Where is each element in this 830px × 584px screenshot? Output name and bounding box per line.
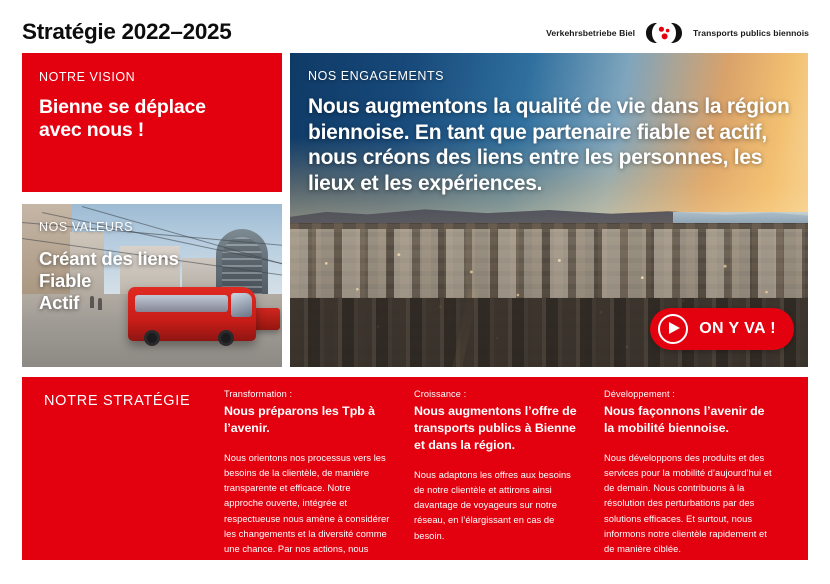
- values-kicker: NOS VALEURS: [39, 220, 133, 234]
- column-kicker: Croissance :: [414, 389, 582, 399]
- strategy-column-croissance: Croissance : Nous augmentons l’offre de …: [414, 389, 604, 572]
- column-kicker: Transformation :: [224, 389, 392, 399]
- tpb-logo-icon: [644, 22, 684, 44]
- engagements-kicker: NOS ENGAGEMENTS: [308, 69, 444, 83]
- vision-headline: Bienne se déplace avec nous !: [39, 96, 267, 142]
- engagements-panel: NOS ENGAGEMENTS Nous augmentons la quali…: [290, 53, 808, 367]
- values-list: Créant des liens Fiable Actif: [39, 248, 274, 315]
- vision-panel: NOTRE VISION Bienne se déplace avec nous…: [22, 53, 282, 192]
- vision-headline-line-2: avec nous !: [39, 119, 267, 142]
- column-headline: Nous augmentons l’offre de transports pu…: [414, 403, 582, 454]
- column-body: Nous développons des produits et des ser…: [604, 450, 772, 557]
- column-kicker: Développement :: [604, 389, 772, 399]
- brand-name-de: Verkehrsbetriebe Biel: [546, 28, 635, 38]
- values-panel: NOS VALEURS Créant des liens Fiable Acti…: [22, 204, 282, 367]
- on-y-va-button-label: ON Y VA !: [699, 320, 776, 338]
- strategy-column-transformation: Transformation : Nous préparons les Tpb …: [224, 389, 414, 572]
- strategy-column-developpement: Développement : Nous façonnons l’avenir …: [604, 389, 794, 572]
- page-header: Stratégie 2022–2025 Verkehrsbetriebe Bie…: [0, 0, 830, 53]
- value-item-2: Fiable: [39, 270, 274, 292]
- brand-lockup: Verkehrsbetriebe Biel Transports publics…: [546, 22, 809, 44]
- page-title: Stratégie 2022–2025: [22, 19, 231, 45]
- play-circle-icon: [658, 314, 688, 344]
- column-headline: Nous façonnons l’avenir de la mobilité b…: [604, 403, 772, 437]
- column-body: Nous adaptons les offres aux besoins de …: [414, 467, 582, 543]
- strategy-columns: Transformation : Nous préparons les Tpb …: [224, 389, 796, 572]
- on-y-va-button[interactable]: ON Y VA !: [650, 308, 794, 350]
- value-item-1: Créant des liens: [39, 248, 274, 270]
- strategy-panel: NOTRE STRATÉGIE Transformation : Nous pr…: [22, 377, 808, 560]
- engagements-headline: Nous augmentons la qualité de vie dans l…: [308, 94, 800, 196]
- column-body: Nous orientons nos processus vers les be…: [224, 450, 392, 572]
- brand-name-fr: Transports publics biennois: [693, 28, 809, 38]
- vision-headline-line-1: Bienne se déplace: [39, 96, 267, 119]
- strategy-kicker: NOTRE STRATÉGIE: [44, 393, 190, 409]
- vision-kicker: NOTRE VISION: [39, 70, 135, 84]
- column-headline: Nous préparons les Tpb à l’avenir.: [224, 403, 392, 437]
- strategy-poster: Stratégie 2022–2025 Verkehrsbetriebe Bie…: [0, 0, 830, 584]
- value-item-3: Actif: [39, 292, 274, 314]
